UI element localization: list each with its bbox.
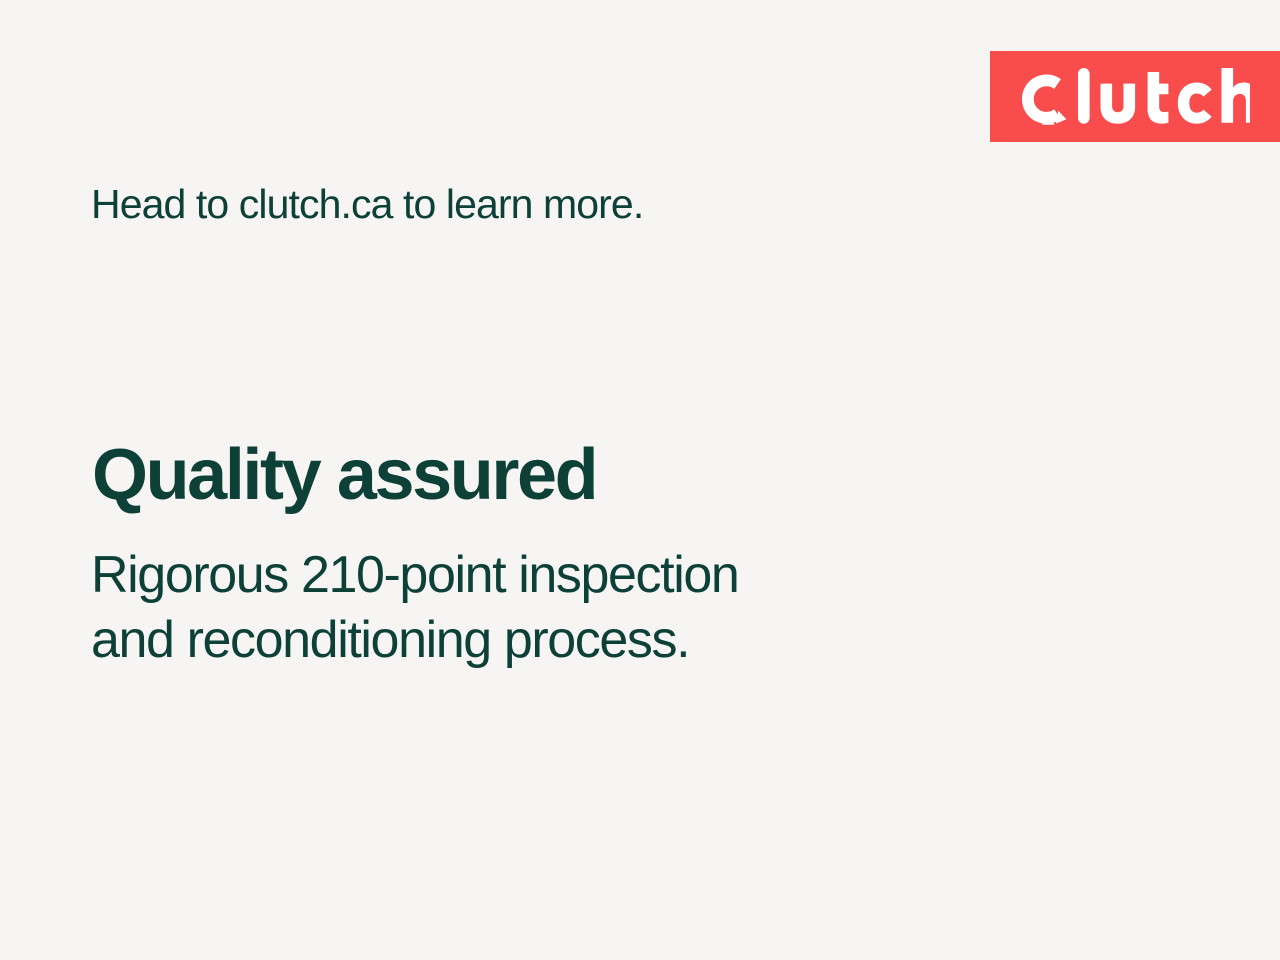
brand-banner	[990, 51, 1280, 142]
body-copy: Rigorous 210-point inspection and recond…	[91, 543, 738, 673]
body-copy-line: Rigorous 210-point inspection	[91, 543, 738, 608]
clutch-logo	[1018, 51, 1250, 142]
page-title: Quality assured	[92, 439, 596, 511]
body-copy-line: and reconditioning process.	[91, 608, 738, 673]
clutch-wordmark-icon	[1018, 66, 1250, 128]
kicker-text: Head to clutch.ca to learn more.	[91, 181, 643, 228]
promo-slide: Head to clutch.ca to learn more. Quality…	[0, 0, 1280, 960]
